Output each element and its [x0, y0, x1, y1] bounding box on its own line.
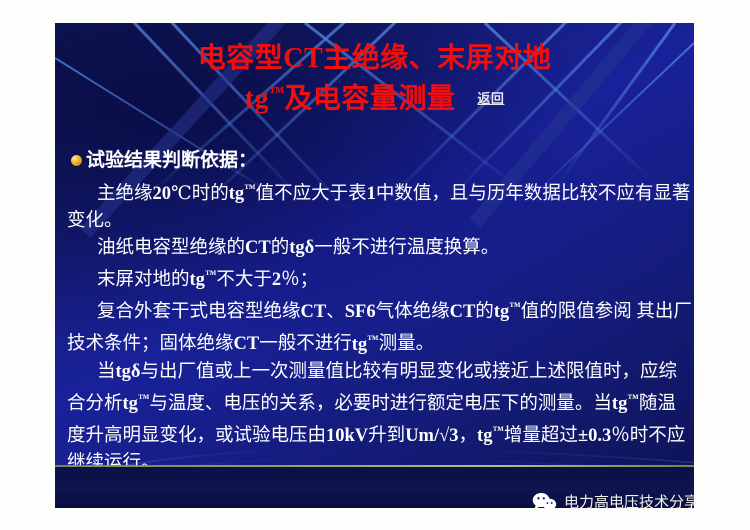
body-heading-row: 试验结果判断依据：: [71, 147, 694, 174]
wechat-icon: [532, 492, 558, 512]
title-tm-superscript: ™: [269, 84, 284, 101]
gold-ball-bullet-icon: [71, 155, 82, 166]
back-link[interactable]: 返回: [477, 91, 504, 107]
slide-canvas: 电容型CT主绝缘、末屏对地 tg™及电容量测量返回 试验结果判断依据： 主绝缘2…: [0, 0, 750, 530]
body-paragraph-1: 主绝缘20℃时的tg™值不应大于表1中数值，且与历年数据比较不应有显著变化。: [67, 176, 694, 235]
body-paragraph-4: 复合外套干式电容型绝缘CT、SF6气体绝缘CT的tg™值的限值参阅 其出厂技术条…: [67, 294, 694, 358]
body-paragraph-5: 当tgδ与出厂值或上一次测量值比较有明显变化或接近上述限值时，应综合分析tg™与…: [67, 359, 694, 477]
title-tg-text: tg: [245, 83, 269, 114]
slide-body: 试验结果判断依据： 主绝缘20℃时的tg™值不应大于表1中数值，且与历年数据比较…: [67, 147, 694, 508]
title-line-2: tg™及电容量测量返回: [55, 76, 694, 116]
slide-title-block: 电容型CT主绝缘、末屏对地 tg™及电容量测量返回: [55, 42, 694, 116]
watermark-text: 电力高电压技术分享: [564, 493, 699, 511]
body-heading-label: 试验结果判断依据：: [86, 147, 257, 174]
body-paragraph-2: 油纸电容型绝缘的CT的tgδ一般不进行温度换算。: [67, 235, 694, 262]
title-line-2-rest: 及电容量测量: [284, 83, 455, 114]
title-line-1: 电容型CT主绝缘、末屏对地: [55, 42, 694, 76]
presentation-slide: 电容型CT主绝缘、末屏对地 tg™及电容量测量返回 试验结果判断依据： 主绝缘2…: [55, 23, 694, 508]
body-paragraph-3: 末屏对地的tg™不大于2％；: [67, 262, 694, 294]
watermark: 电力高电压技术分享: [532, 492, 699, 512]
